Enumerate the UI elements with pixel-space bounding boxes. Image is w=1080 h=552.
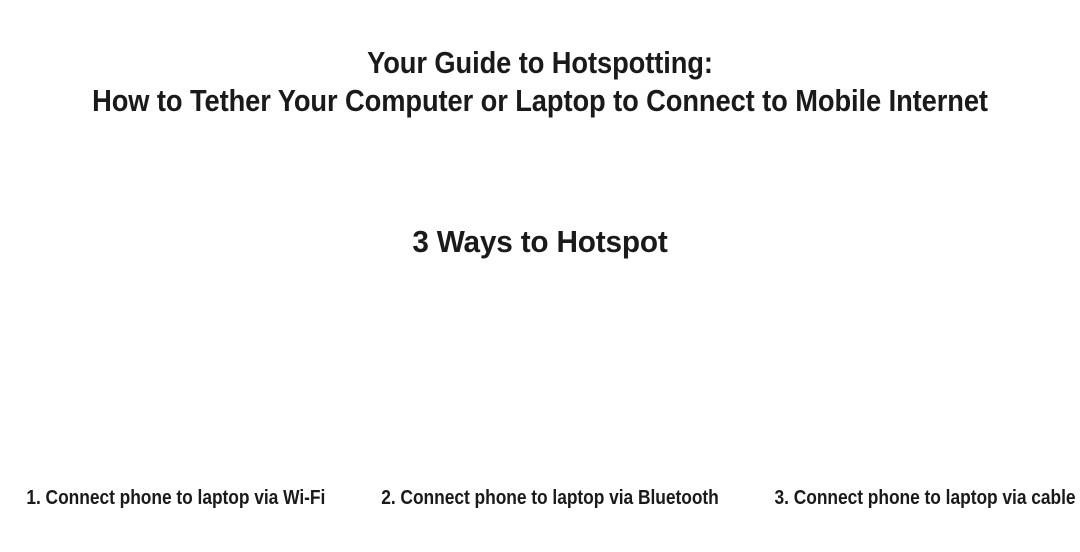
method-image-3: [720, 286, 1080, 476]
method-image-row: [0, 286, 1080, 476]
section-heading: 3 Ways to Hotspot: [0, 222, 1080, 262]
page-title-line-2: How to Tether Your Computer or Laptop to…: [72, 82, 1008, 120]
method-caption-row: 1. Connect phone to laptop via Wi-Fi 2. …: [0, 486, 1080, 510]
method-caption-cell-1: 1. Connect phone to laptop via Wi-Fi: [0, 486, 352, 510]
method-image-cell-2: [360, 286, 720, 476]
section-heading-label: 3 Ways to Hotspot: [412, 222, 667, 262]
method-image-cell-1: [0, 286, 360, 476]
page-title-line-1: Your Guide to Hotspotting:: [72, 44, 1008, 82]
method-image-cell-3: [720, 286, 1080, 476]
page-title: Your Guide to Hotspotting: How to Tether…: [0, 44, 1080, 120]
method-caption-2: 2. Connect phone to laptop via Bluetooth: [381, 486, 719, 510]
method-caption-cell-2: 2. Connect phone to laptop via Bluetooth: [352, 486, 748, 510]
method-caption-3: 3. Connect phone to laptop via cable: [774, 486, 1075, 510]
article-page: Your Guide to Hotspotting: How to Tether…: [0, 0, 1080, 552]
method-caption-1: 1. Connect phone to laptop via Wi-Fi: [26, 486, 325, 510]
method-image-2: [360, 286, 720, 476]
method-caption-cell-3: 3. Connect phone to laptop via cable: [748, 486, 1080, 510]
method-image-1: [0, 286, 360, 476]
